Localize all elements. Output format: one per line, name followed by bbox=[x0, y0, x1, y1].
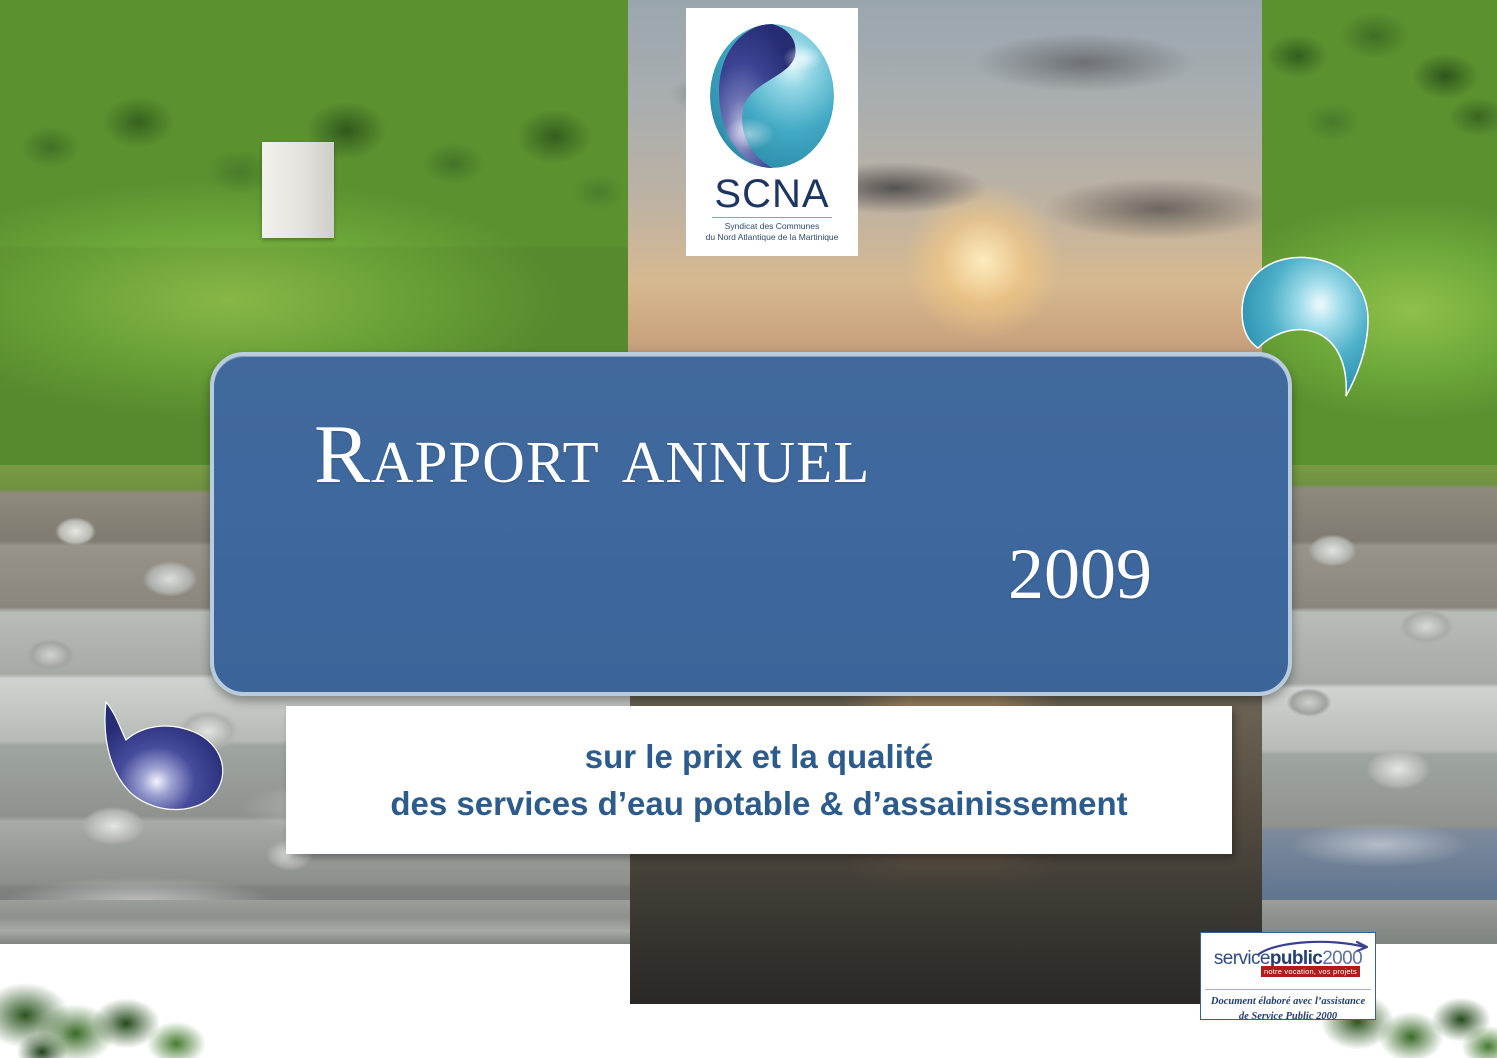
report-year: 2009 bbox=[314, 538, 1202, 610]
photo-stream-right bbox=[1262, 465, 1497, 940]
scna-tagline: Syndicat des Communes du Nord Atlantique… bbox=[697, 221, 847, 244]
page-title: Rapport annuel bbox=[314, 412, 1202, 498]
scna-tagline-line-2: du Nord Atlantique de la Martinique bbox=[697, 232, 847, 243]
photo-reservoir-right bbox=[1262, 0, 1497, 470]
service-public-2000-logo: servicepublic2000 notre vocation, vos pr… bbox=[1205, 939, 1371, 975]
photo-channel-bottomleft bbox=[0, 900, 630, 1058]
report-cover-page: SCNA Syndicat des Communes du Nord Atlan… bbox=[0, 0, 1497, 1058]
scna-logo-card: SCNA Syndicat des Communes du Nord Atlan… bbox=[686, 8, 858, 256]
sp2000-divider bbox=[1205, 989, 1371, 990]
service-public-2000-credit-box: servicepublic2000 notre vocation, vos pr… bbox=[1200, 932, 1376, 1020]
subtitle-line-2: des services d’eau potable & d’assainiss… bbox=[390, 783, 1127, 824]
scna-sphere-logo-icon bbox=[705, 22, 839, 170]
scna-wordmark: SCNA bbox=[714, 174, 829, 214]
scna-divider bbox=[712, 217, 832, 218]
sp2000-tagline: notre vocation, vos projets bbox=[1261, 966, 1360, 977]
credit-line-2: de Service Public 2000 bbox=[1205, 1010, 1371, 1025]
scna-tagline-line-1: Syndicat des Communes bbox=[697, 221, 847, 232]
subtitle-box: sur le prix et la qualité des services d… bbox=[286, 706, 1232, 854]
title-banner: Rapport annuel 2009 bbox=[210, 352, 1292, 696]
credit-line-1: Document élaboré avec l’assistance bbox=[1205, 995, 1371, 1010]
subtitle-line-1: sur le prix et la qualité bbox=[585, 736, 933, 777]
